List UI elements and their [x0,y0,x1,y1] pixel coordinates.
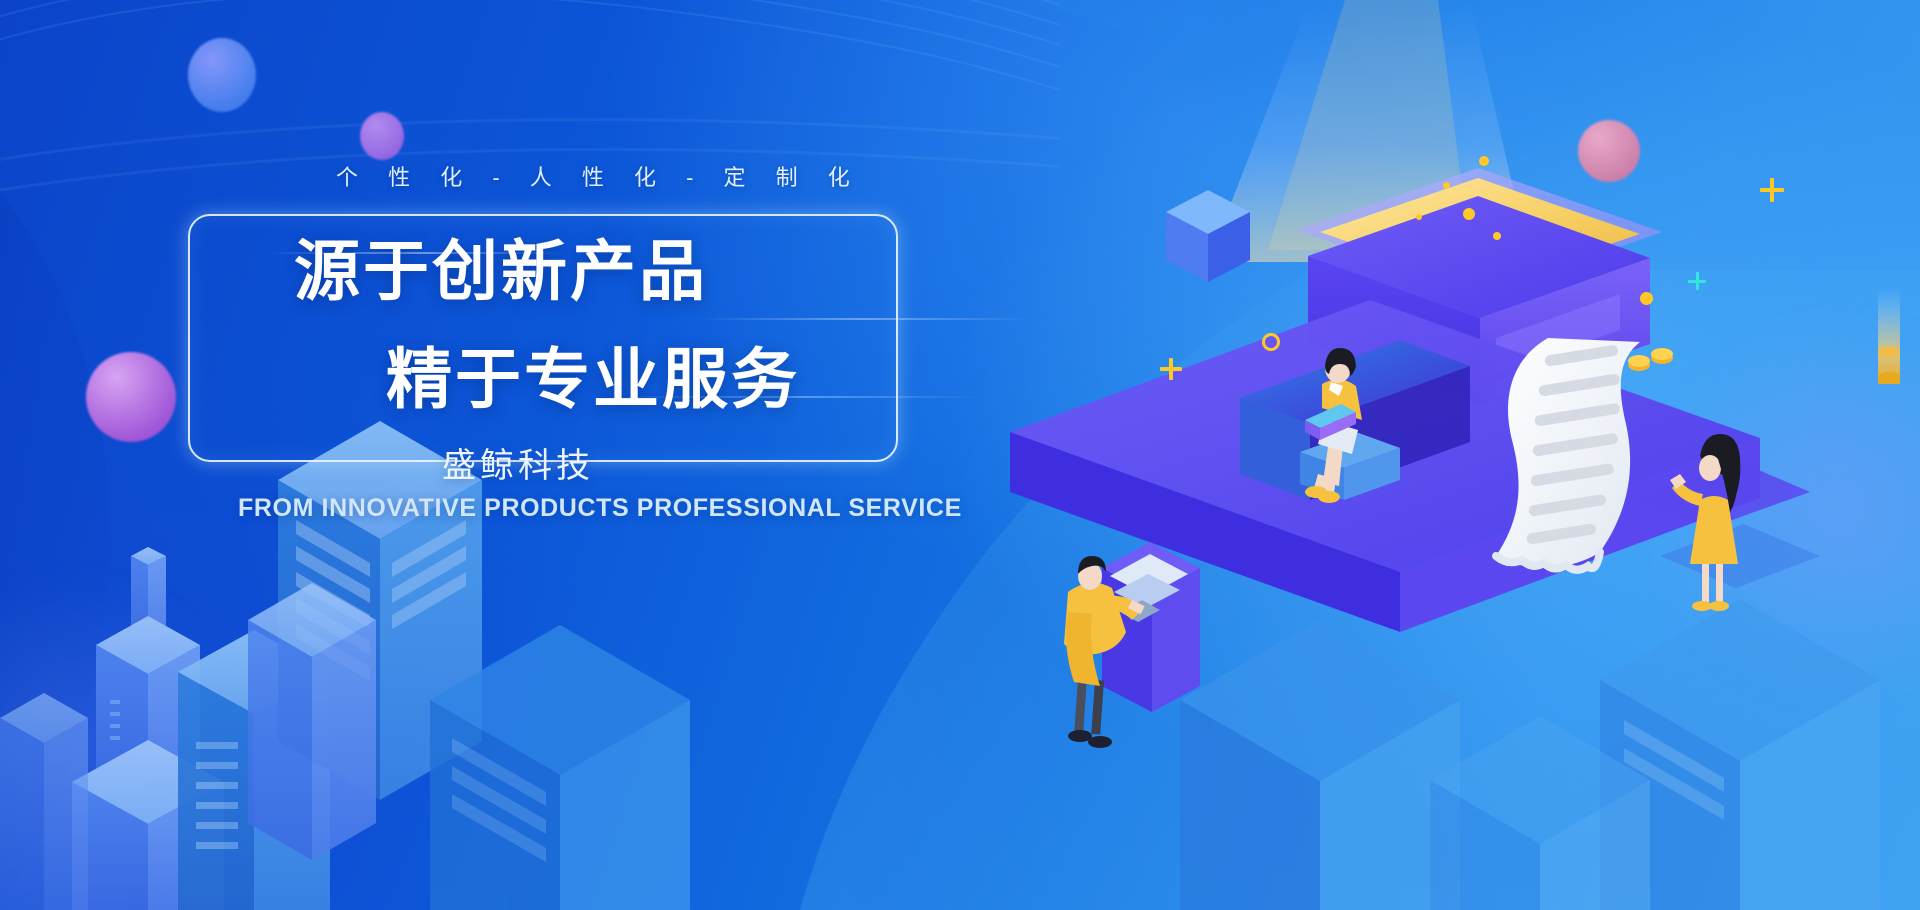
yellow-dot-1 [1479,156,1489,166]
coin-stack [1628,348,1673,371]
glow-capsule-tube [1878,288,1900,384]
man-at-kiosk-terminal [1064,542,1200,748]
brand-name: 盛鲸科技 [442,438,594,487]
teal-plus-icon [1688,272,1706,290]
yellow-plus-icon-left [1160,358,1182,380]
subtitle-english: FROM INNOVATIVE PRODUCTS PROFESSIONAL SE… [238,494,962,523]
copy-block: 个 性 化 - 人 性 化 - 定 制 化 源于创新产品 精于专业服务 盛鲸科技… [0,0,960,910]
yellow-dot-6 [1640,292,1653,305]
tagline-text: 个 性 化 - 人 性 化 - 定 制 化 [336,160,862,192]
pink-sphere [1578,120,1640,182]
yellow-dot-3 [1463,208,1475,220]
headline-line-2: 精于专业服务 [386,346,800,412]
yellow-ring-icon [1262,333,1280,351]
purple-haze-right [1630,300,1920,720]
yellow-dot-4 [1416,214,1422,220]
seated-woman-with-laptop [1305,348,1362,503]
yellow-dot-2 [1443,182,1450,189]
yellow-dot-5 [1493,232,1501,240]
floating-cube [1166,190,1250,282]
standing-woman-reading-receipt [1670,434,1740,611]
receipt-scroll [1496,338,1640,570]
hero-banner: 个 性 化 - 人 性 化 - 定 制 化 源于创新产品 精于专业服务 盛鲸科技… [0,0,1920,910]
yellow-plus-icon-right [1760,178,1784,202]
headline-line-1: 源于创新产品 [294,238,708,304]
